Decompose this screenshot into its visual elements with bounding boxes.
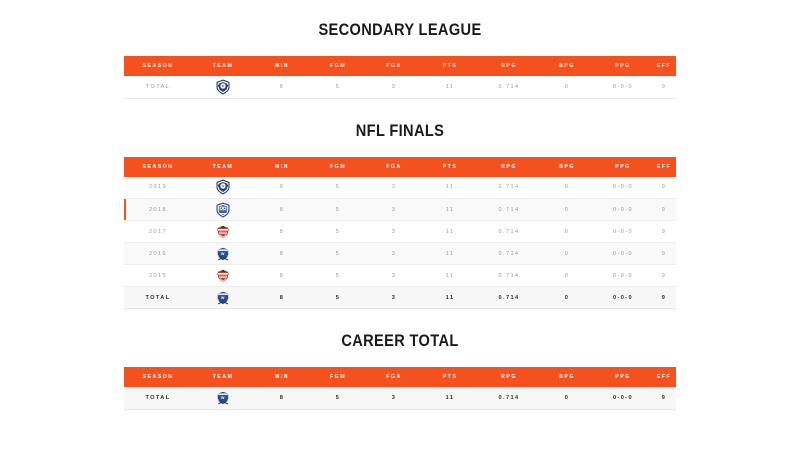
cell-eff: 9 — [652, 243, 676, 265]
cell-fga: 3 — [366, 177, 422, 199]
table-row[interactable]: TOTAL 853110.71400-0-09 — [124, 76, 676, 98]
cell-season: 2019 — [124, 177, 192, 199]
cell-fgm: 5 — [310, 287, 366, 309]
column-header-team[interactable]: TEAM — [192, 56, 254, 76]
cell-fgm: 5 — [310, 199, 366, 221]
cell-bpg: 0 — [540, 76, 594, 98]
section-spacer — [0, 309, 800, 331]
column-header-fgm[interactable]: FGM — [310, 56, 366, 76]
stats-table-header: SEASONTEAMMINFGMFGAPTSRPGBPGPPGEFF — [124, 56, 676, 76]
table-row[interactable]: 2015 853110.71400-0-09 — [124, 265, 676, 287]
cell-ppg: 0-0-0 — [594, 76, 652, 98]
blue-bat-shield-logo: W — [215, 246, 231, 262]
column-header-eff[interactable]: EFF — [652, 157, 676, 177]
column-header-season[interactable]: SEASON — [124, 367, 192, 387]
cell-min: 8 — [254, 76, 310, 98]
column-header-eff[interactable]: EFF — [652, 367, 676, 387]
cell-team: W — [192, 287, 254, 309]
cell-ppg: 0-0-0 — [594, 243, 652, 265]
column-header-bpg[interactable]: BPG — [540, 157, 594, 177]
column-header-fgm[interactable]: FGM — [310, 157, 366, 177]
cell-rpg: 0.714 — [478, 243, 540, 265]
column-header-team[interactable]: TEAM — [192, 157, 254, 177]
cell-fga: 3 — [366, 265, 422, 287]
cell-pts: 11 — [422, 287, 478, 309]
cell-eff: 9 — [652, 287, 676, 309]
cell-bpg: 0 — [540, 177, 594, 199]
cell-rpg: 0.714 — [478, 387, 540, 409]
section-spacer — [0, 99, 800, 121]
stats-table-secondary-league: SEASONTEAMMINFGMFGAPTSRPGBPGPPGEFFTOTAL … — [124, 56, 676, 99]
stats-table-wrapper-nfl-finals: SEASONTEAMMINFGMFGAPTSRPGBPGPPGEFF2019 8… — [124, 157, 676, 310]
cell-season: 2018 — [124, 199, 192, 221]
column-header-team[interactable]: TEAM — [192, 367, 254, 387]
cell-min: 8 — [254, 221, 310, 243]
table-row[interactable]: 2017 853110.71400-0-09 — [124, 221, 676, 243]
svg-text:W: W — [221, 251, 225, 255]
cell-bpg: 0 — [540, 199, 594, 221]
cell-min: 8 — [254, 199, 310, 221]
cell-season: 2015 — [124, 265, 192, 287]
cell-team: W — [192, 243, 254, 265]
eagle-crest-logo — [215, 179, 231, 195]
cell-team: W — [192, 387, 254, 409]
blue-bat-shield-logo: W — [215, 290, 231, 306]
cell-ppg: 0-0-0 — [594, 221, 652, 243]
cell-rpg: 0.714 — [478, 76, 540, 98]
cell-fga: 3 — [366, 243, 422, 265]
cell-bpg: 0 — [540, 265, 594, 287]
cell-ppg: 0-0-0 — [594, 199, 652, 221]
cell-fga: 3 — [366, 287, 422, 309]
cell-pts: 11 — [422, 387, 478, 409]
stats-page: SECONDARY LEAGUESEASONTEAMMINFGMFGAPTSRP… — [0, 0, 800, 460]
owl-shield-logo — [215, 202, 231, 218]
column-header-fga[interactable]: FGA — [366, 157, 422, 177]
cell-pts: 11 — [422, 177, 478, 199]
header-row: SEASONTEAMMINFGMFGAPTSRPGBPGPPGEFF — [124, 367, 676, 387]
cell-ppg: 0-0-0 — [594, 177, 652, 199]
cell-fga: 3 — [366, 76, 422, 98]
column-header-ppg[interactable]: PPG — [594, 367, 652, 387]
stats-table-body: 2019 853110.71400-0-092018 853110.71400-… — [124, 177, 676, 309]
column-header-rpg[interactable]: RPG — [478, 367, 540, 387]
column-header-rpg[interactable]: RPG — [478, 157, 540, 177]
cell-eff: 9 — [652, 199, 676, 221]
column-header-ppg[interactable]: PPG — [594, 157, 652, 177]
cell-rpg: 0.714 — [478, 287, 540, 309]
column-header-min[interactable]: MIN — [254, 56, 310, 76]
column-header-season[interactable]: SEASON — [124, 157, 192, 177]
cell-fga: 3 — [366, 199, 422, 221]
stats-section-nfl-finals: NFL FINALSSEASONTEAMMINFGMFGAPTSRPGBPGPP… — [0, 121, 800, 310]
eagle-crest-logo — [215, 79, 231, 95]
column-header-fga[interactable]: FGA — [366, 367, 422, 387]
table-row-total[interactable]: TOTAL W 853110.71400-0-09 — [124, 287, 676, 309]
cell-bpg: 0 — [540, 287, 594, 309]
cell-rpg: 0.714 — [478, 265, 540, 287]
cell-eff: 9 — [652, 177, 676, 199]
stats-table-header: SEASONTEAMMINFGMFGAPTSRPGBPGPPGEFF — [124, 157, 676, 177]
column-header-bpg[interactable]: BPG — [540, 56, 594, 76]
section-title-career-total: CAREER TOTAL — [56, 331, 744, 351]
cell-season: 2017 — [124, 221, 192, 243]
header-row: SEASONTEAMMINFGMFGAPTSRPGBPGPPGEFF — [124, 157, 676, 177]
column-header-ppg[interactable]: PPG — [594, 56, 652, 76]
cell-ppg: 0-0-0 — [594, 287, 652, 309]
column-header-season[interactable]: SEASON — [124, 56, 192, 76]
column-header-min[interactable]: MIN — [254, 367, 310, 387]
cell-bpg: 0 — [540, 387, 594, 409]
stats-table-wrapper-secondary-league: SEASONTEAMMINFGMFGAPTSRPGBPGPPGEFFTOTAL … — [124, 56, 676, 99]
cell-pts: 11 — [422, 221, 478, 243]
column-header-fga[interactable]: FGA — [366, 56, 422, 76]
cell-pts: 11 — [422, 199, 478, 221]
stats-table-body: TOTAL W 853110.71400-0-09 — [124, 387, 676, 409]
table-row-total[interactable]: TOTAL W 853110.71400-0-09 — [124, 387, 676, 409]
stats-table-nfl-finals: SEASONTEAMMINFGMFGAPTSRPGBPGPPGEFF2019 8… — [124, 157, 676, 310]
stats-table-body: TOTAL 853110.71400-0-09 — [124, 76, 676, 98]
section-title-nfl-finals: NFL FINALS — [56, 121, 744, 141]
column-header-fgm[interactable]: FGM — [310, 367, 366, 387]
cell-rpg: 0.714 — [478, 177, 540, 199]
column-header-pts[interactable]: PTS — [422, 367, 478, 387]
cell-pts: 11 — [422, 265, 478, 287]
cell-fgm: 5 — [310, 177, 366, 199]
cell-season: TOTAL — [124, 76, 192, 98]
cell-eff: 9 — [652, 265, 676, 287]
stats-table-wrapper-career-total: SEASONTEAMMINFGMFGAPTSRPGBPGPPGEFFTOTAL … — [124, 367, 676, 410]
cell-bpg: 0 — [540, 221, 594, 243]
cell-ppg: 0-0-0 — [594, 387, 652, 409]
column-header-rpg[interactable]: RPG — [478, 56, 540, 76]
cell-eff: 9 — [652, 221, 676, 243]
header-row: SEASONTEAMMINFGMFGAPTSRPGBPGPPGEFF — [124, 56, 676, 76]
cell-eff: 9 — [652, 387, 676, 409]
stats-section-secondary-league: SECONDARY LEAGUESEASONTEAMMINFGMFGAPTSRP… — [0, 20, 800, 99]
svg-text:W: W — [221, 295, 225, 299]
cell-pts: 11 — [422, 243, 478, 265]
sections-container: SECONDARY LEAGUESEASONTEAMMINFGMFGAPTSRP… — [0, 20, 800, 410]
section-title-secondary-league: SECONDARY LEAGUE — [56, 20, 744, 40]
cell-eff: 9 — [652, 76, 676, 98]
red-banner-logo — [215, 224, 231, 240]
cell-fgm: 5 — [310, 76, 366, 98]
cell-team — [192, 177, 254, 199]
red-banner-logo — [215, 268, 231, 284]
cell-min: 8 — [254, 265, 310, 287]
cell-season: TOTAL — [124, 387, 192, 409]
stats-table-career-total: SEASONTEAMMINFGMFGAPTSRPGBPGPPGEFFTOTAL … — [124, 367, 676, 410]
cell-min: 8 — [254, 243, 310, 265]
cell-pts: 11 — [422, 76, 478, 98]
cell-bpg: 0 — [540, 243, 594, 265]
cell-rpg: 0.714 — [478, 199, 540, 221]
cell-season: 2016 — [124, 243, 192, 265]
blue-bat-shield-logo: W — [215, 390, 231, 406]
svg-text:W: W — [221, 396, 225, 400]
cell-fgm: 5 — [310, 265, 366, 287]
column-header-pts[interactable]: PTS — [422, 56, 478, 76]
cell-fgm: 5 — [310, 243, 366, 265]
cell-team — [192, 265, 254, 287]
column-header-pts[interactable]: PTS — [422, 157, 478, 177]
cell-ppg: 0-0-0 — [594, 265, 652, 287]
cell-rpg: 0.714 — [478, 221, 540, 243]
cell-team — [192, 221, 254, 243]
cell-fga: 3 — [366, 387, 422, 409]
cell-team — [192, 199, 254, 221]
cell-min: 8 — [254, 287, 310, 309]
table-row[interactable]: 2019 853110.71400-0-09 — [124, 177, 676, 199]
stats-table-header: SEASONTEAMMINFGMFGAPTSRPGBPGPPGEFF — [124, 367, 676, 387]
column-header-bpg[interactable]: BPG — [540, 367, 594, 387]
column-header-eff[interactable]: EFF — [652, 56, 676, 76]
stats-section-career-total: CAREER TOTALSEASONTEAMMINFGMFGAPTSRPGBPG… — [0, 331, 800, 410]
cell-min: 8 — [254, 387, 310, 409]
table-row[interactable]: 2016 W 853110.71400-0-09 — [124, 243, 676, 265]
column-header-min[interactable]: MIN — [254, 157, 310, 177]
cell-fga: 3 — [366, 221, 422, 243]
cell-fgm: 5 — [310, 221, 366, 243]
cell-min: 8 — [254, 177, 310, 199]
table-row[interactable]: 2018 853110.71400-0-09 — [124, 199, 676, 221]
cell-season: TOTAL — [124, 287, 192, 309]
cell-team — [192, 76, 254, 98]
cell-fgm: 5 — [310, 387, 366, 409]
